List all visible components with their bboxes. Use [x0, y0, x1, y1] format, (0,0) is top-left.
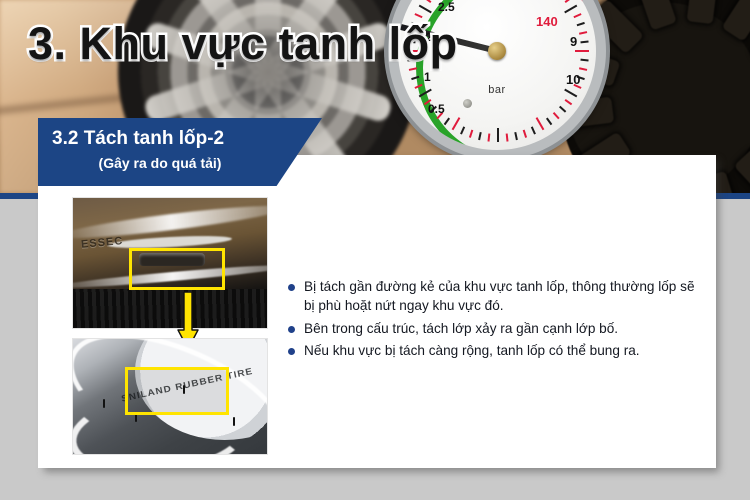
- list-item: Nếu khu vực bị tách càng rộng, tanh lốp …: [288, 341, 700, 360]
- bullet-text: Nếu khu vực bị tách càng rộng, tanh lốp …: [304, 341, 700, 360]
- bullet-list: Bị tách gần đường kẻ của khu vực tanh lố…: [288, 277, 700, 363]
- section-banner-title: 3.2 Tách tanh lốp-2: [52, 128, 302, 150]
- bullet-text: Bên trong cấu trúc, tách lớp xảy ra gần …: [304, 319, 700, 338]
- page-title: 3. Khu vực tanh lốp: [28, 18, 458, 70]
- gauge-scale-number: 2.5: [438, 0, 455, 14]
- gauge-screw-icon: [463, 99, 472, 108]
- gauge-scale-number: 0.5: [428, 102, 445, 116]
- bullet-dot-icon: [288, 326, 295, 333]
- gauge-scale-number: 10: [566, 72, 580, 87]
- gauge-scale-number: 1: [424, 70, 431, 84]
- photo-tire-inner-liner: SNILAND RUBBER TIRE: [72, 338, 268, 455]
- gauge-scale-number: 140: [536, 14, 558, 29]
- bullet-dot-icon: [288, 348, 295, 355]
- photo-bottom-nub: [103, 399, 105, 408]
- gauge-scale-number: 9: [570, 34, 577, 49]
- tread-lug: [635, 0, 677, 30]
- gauge-needle-hub: [488, 42, 506, 60]
- photo-top-tread-band: [73, 289, 267, 328]
- slide-canvas: bar 0.5122.540120140910 3. Khu vực tanh …: [0, 0, 750, 500]
- gauge-tick: [424, 0, 432, 3]
- tread-lug: [722, 0, 750, 42]
- list-item: Bên trong cấu trúc, tách lớp xảy ra gần …: [288, 319, 700, 338]
- bullet-text: Bị tách gần đường kẻ của khu vực tanh lố…: [304, 277, 700, 316]
- list-item: Bị tách gần đường kẻ của khu vực tanh lố…: [288, 277, 700, 316]
- section-banner-subtitle: (Gây ra do quá tải): [52, 155, 268, 171]
- gauge-tick: [497, 128, 499, 142]
- photo-tire-bead-separation: ESSEC: [72, 197, 268, 329]
- tread-lug: [687, 0, 719, 24]
- photo-top-highlight-box: [129, 248, 225, 290]
- bullet-dot-icon: [288, 284, 295, 291]
- photo-bottom-nub: [233, 417, 235, 426]
- gauge-tick: [575, 50, 589, 52]
- tread-lug: [734, 148, 750, 193]
- photo-bottom-highlight-box: [125, 367, 229, 415]
